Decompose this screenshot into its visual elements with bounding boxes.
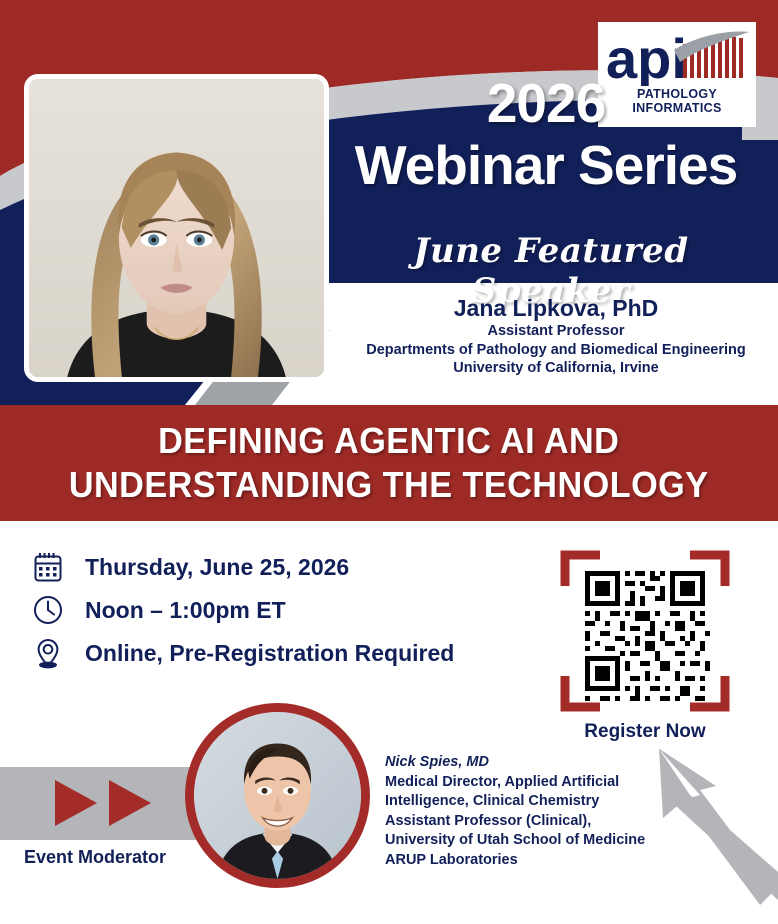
registration-qr-code[interactable] [560, 546, 730, 716]
speaker-photo [24, 74, 329, 382]
speaker-name: Jana Lipkova, PhD [336, 294, 776, 322]
webinar-title-banner: DEFINING AGENTIC AI AND UNDERSTANDING TH… [0, 405, 778, 521]
hero-series: Webinar Series [336, 134, 756, 196]
play-arrow-2-icon [109, 780, 151, 826]
hero-title: 2026 Webinar Series [336, 72, 756, 196]
speaker-title: Assistant Professor [336, 322, 776, 341]
hero-year: 2026 [336, 72, 756, 134]
speaker-credentials: Jana Lipkova, PhD Assistant Professor De… [336, 294, 776, 378]
detail-row-location: Online, Pre-Registration Required [28, 631, 528, 674]
moderator-photo [185, 703, 370, 888]
speaker-institution: University of California, Irvine [336, 359, 776, 378]
detail-row-time: Noon – 1:00pm ET [28, 588, 528, 631]
moderator-bio-line4: University of Utah School of Medicine [385, 831, 685, 851]
calendar-icon [28, 547, 68, 587]
register-now-label[interactable]: Register Now [545, 721, 745, 743]
detail-text-date: Thursday, June 25, 2026 [85, 553, 349, 581]
moderator-bio-line1: Medical Director, Applied Artificial [385, 773, 685, 793]
location-pin-icon [28, 633, 68, 673]
detail-text-time: Noon – 1:00pm ET [85, 596, 286, 624]
detail-row-date: Thursday, June 25, 2026 [28, 545, 528, 588]
webinar-title-line1: DEFINING AGENTIC AI AND [158, 419, 619, 463]
clock-icon [28, 590, 68, 630]
event-moderator-label: Event Moderator [0, 847, 190, 868]
play-arrow-1-icon [55, 780, 97, 826]
speaker-department: Departments of Pathology and Biomedical … [336, 341, 776, 360]
detail-text-location: Online, Pre-Registration Required [85, 639, 454, 667]
webinar-title-line2: UNDERSTANDING THE TECHNOLOGY [69, 463, 709, 507]
moderator-name: Nick Spies, MD [385, 753, 685, 773]
play-arrows-icon [55, 780, 151, 826]
moderator-bio-line2: Intelligence, Clinical Chemistry [385, 792, 685, 812]
webinar-flyer: api PATHOLOGY INFORMATICS [0, 0, 778, 924]
event-details: Thursday, June 25, 2026 Noon – 1:00pm ET [28, 545, 528, 674]
moderator-bio-line5: ARUP Laboratories [385, 851, 685, 871]
moderator-bio-line3: Assistant Professor (Clinical), [385, 812, 685, 832]
moderator-bio: Nick Spies, MD Medical Director, Applied… [385, 753, 685, 870]
